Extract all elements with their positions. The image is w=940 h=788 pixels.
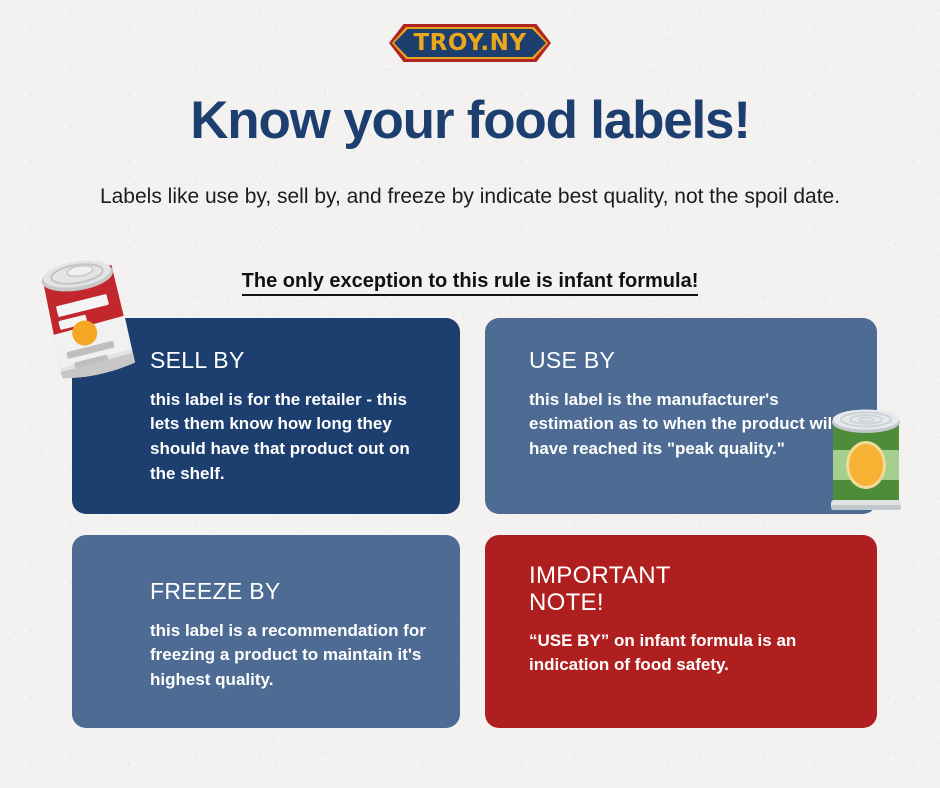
label-card-grid: SELL BY this label is for the retailer -… [72,318,877,728]
green-can-illustration [823,402,909,516]
logo-badge-shape: TROY.NY [389,24,551,62]
exception-note-text: The only exception to this rule is infan… [242,270,699,296]
card-use-by-heading: USE BY [529,348,849,374]
card-freeze-by-body: this label is a recommendation for freez… [150,619,432,693]
infographic-poster: TROY.NY Know your food labels! Labels li… [0,0,940,788]
card-use-by-body: this label is the manufacturer's estimat… [529,388,849,462]
card-important-note: IMPORTANT NOTE! “USE BY” on infant formu… [485,535,877,728]
page-subtitle: Labels like use by, sell by, and freeze … [0,182,940,212]
card-important-note-heading: IMPORTANT NOTE! [529,563,849,617]
card-important-note-body: “USE BY” on infant formula is an indicat… [529,629,849,678]
brand-logo: TROY.NY [0,24,940,67]
exception-note: The only exception to this rule is infan… [0,270,940,293]
card-use-by: USE BY this label is the manufacturer's … [485,318,877,514]
red-can-illustration [32,252,136,392]
card-sell-by-heading: SELL BY [150,348,432,374]
card-freeze-by: FREEZE BY this label is a recommendation… [72,535,460,728]
card-freeze-by-heading: FREEZE BY [150,579,432,605]
page-title: Know your food labels! [0,92,940,149]
logo-text: TROY.NY [389,24,551,62]
card-sell-by-body: this label is for the retailer - this le… [150,388,432,487]
